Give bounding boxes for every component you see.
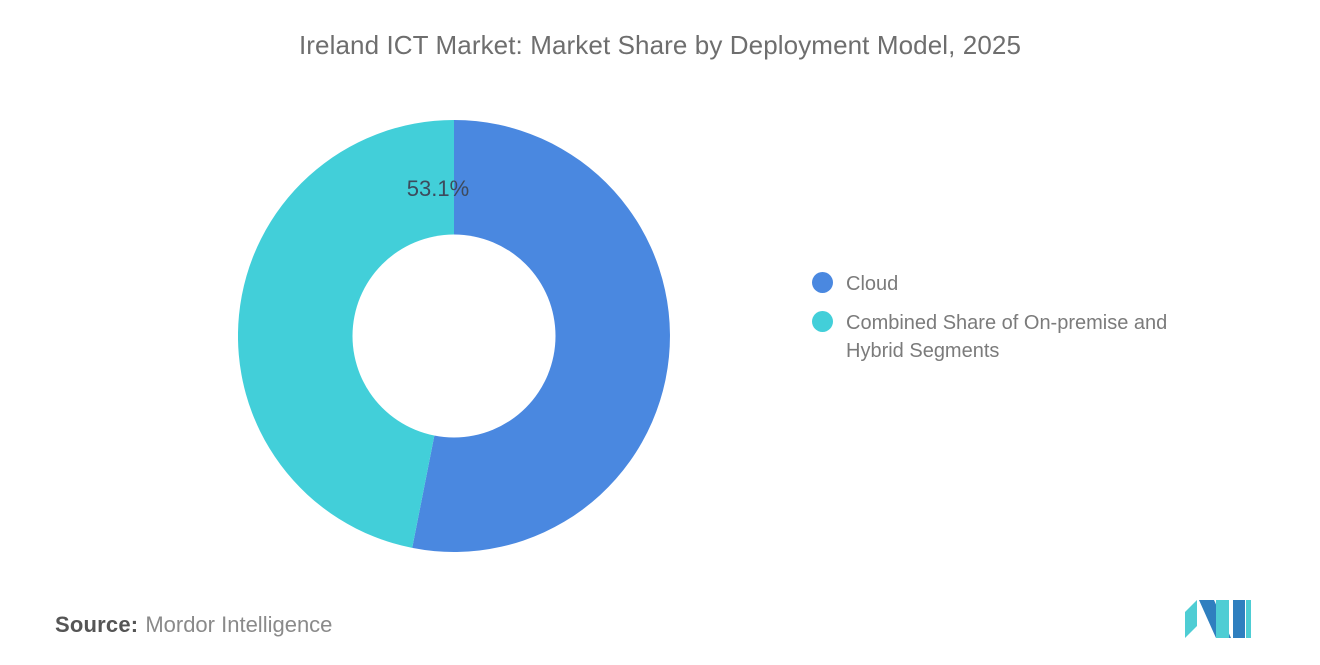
page-title: Ireland ICT Market: Market Share by Depl… [0, 30, 1320, 61]
mordor-intelligence-logo-svg [1183, 598, 1253, 640]
mordor-intelligence-logo-icon [1183, 598, 1253, 640]
donut-chart-svg [238, 120, 670, 552]
legend-label-combined-onpremise-hybrid: Combined Share of On-premise and Hybrid … [846, 309, 1218, 365]
legend-item-combined-onpremise-hybrid[interactable]: Combined Share of On-premise and Hybrid … [812, 309, 1232, 365]
source-label: Source: [55, 612, 138, 637]
source-attribution: Source:Mordor Intelligence [55, 612, 332, 638]
chart-legend: Cloud Combined Share of On-premise and H… [812, 270, 1232, 376]
chart-canvas: Ireland ICT Market: Market Share by Depl… [0, 0, 1320, 665]
legend-swatch-combined-onpremise-hybrid-icon [812, 311, 833, 332]
legend-item-cloud[interactable]: Cloud [812, 270, 1232, 298]
legend-swatch-cloud-icon [812, 272, 833, 293]
donut-chart [238, 120, 670, 552]
legend-label-cloud: Cloud [846, 270, 898, 298]
source-value: Mordor Intelligence [145, 612, 332, 637]
donut-hole [353, 235, 556, 438]
